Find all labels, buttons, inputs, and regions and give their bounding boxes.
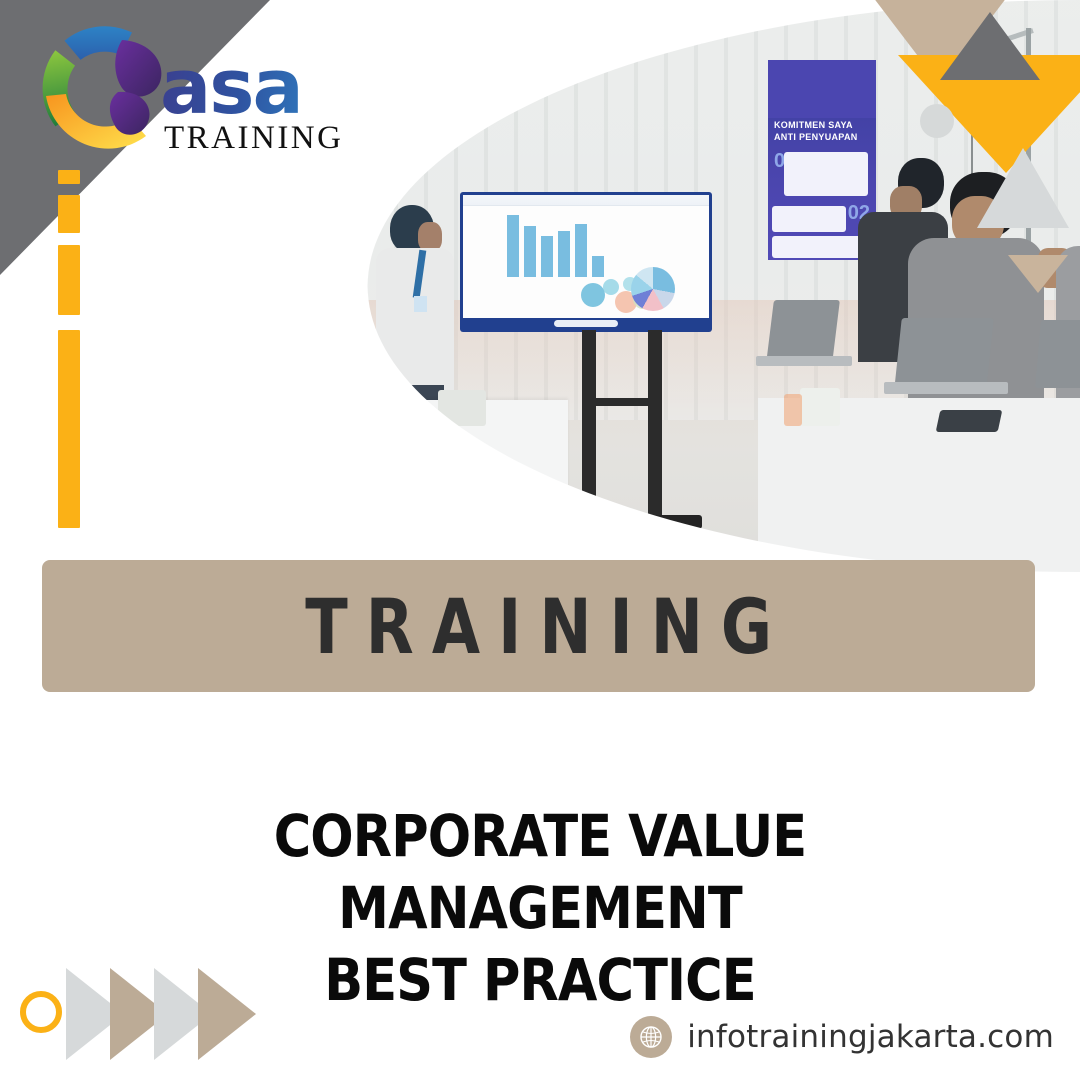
website-footer[interactable]: infotrainingjakarta.com — [630, 1016, 1054, 1058]
title-line-1: CORPORATE VALUE MANAGEMENT — [65, 800, 1015, 944]
arrow-chevrons — [20, 968, 220, 1064]
rail-dash-4 — [58, 330, 80, 528]
screen-bar-chart — [507, 215, 604, 277]
website-url[interactable]: infotrainingjakarta.com — [687, 1019, 1054, 1055]
laptop-2-base — [884, 382, 1008, 394]
logo-wordmark: asa — [160, 50, 390, 124]
asa-swoosh-icon — [34, 18, 176, 160]
rail-dash-3 — [58, 245, 80, 315]
tv-stand-left — [582, 330, 596, 520]
phone-on-table — [936, 410, 1003, 432]
white-circle — [920, 104, 954, 138]
tissue-box-right — [800, 388, 840, 426]
laptop-1 — [766, 300, 840, 364]
tv-bezel-bottom — [463, 318, 709, 329]
light-gray-up-triangle — [977, 148, 1069, 228]
presenter-body — [376, 248, 454, 398]
screen-pie-chart — [631, 267, 675, 311]
laptop-2 — [894, 318, 994, 390]
screen-toolbar — [463, 195, 709, 206]
chevron-4-icon — [198, 968, 256, 1060]
tv-stand-right — [648, 330, 662, 520]
tan-down-triangle-small — [1008, 255, 1068, 293]
tv-display — [460, 192, 712, 332]
tv-screen — [463, 195, 709, 329]
brand-logo: asa TRAINING — [34, 18, 354, 168]
tv-control-bar — [554, 320, 618, 327]
training-banner: TRAINING — [42, 560, 1035, 692]
laptop-3 — [1035, 320, 1080, 388]
presenter-badge — [414, 296, 427, 312]
rail-dash-2 — [58, 195, 80, 233]
air-conditioner — [538, 0, 708, 44]
table-left — [338, 400, 568, 572]
laptop-1-base — [756, 356, 852, 366]
floor-cable — [448, 452, 540, 496]
tissue-box-left — [438, 390, 486, 426]
logo-subtitle: TRAINING — [160, 120, 390, 157]
gray-up-triangle — [940, 12, 1040, 80]
training-banner-label: TRAINING — [287, 582, 790, 671]
tv-stand-base — [552, 515, 702, 529]
yellow-ring-icon — [20, 991, 62, 1033]
globe-icon — [630, 1016, 672, 1058]
rollup-banner-line2: ANTI PENYUAPAN — [774, 132, 858, 143]
rollup-banner-line1: KOMITMEN SAYA — [774, 120, 853, 131]
rail-dash-1 — [58, 170, 80, 184]
tv-stand-crossbar — [582, 398, 662, 406]
poster-canvas: asa TRAINING — [0, 0, 1080, 1080]
